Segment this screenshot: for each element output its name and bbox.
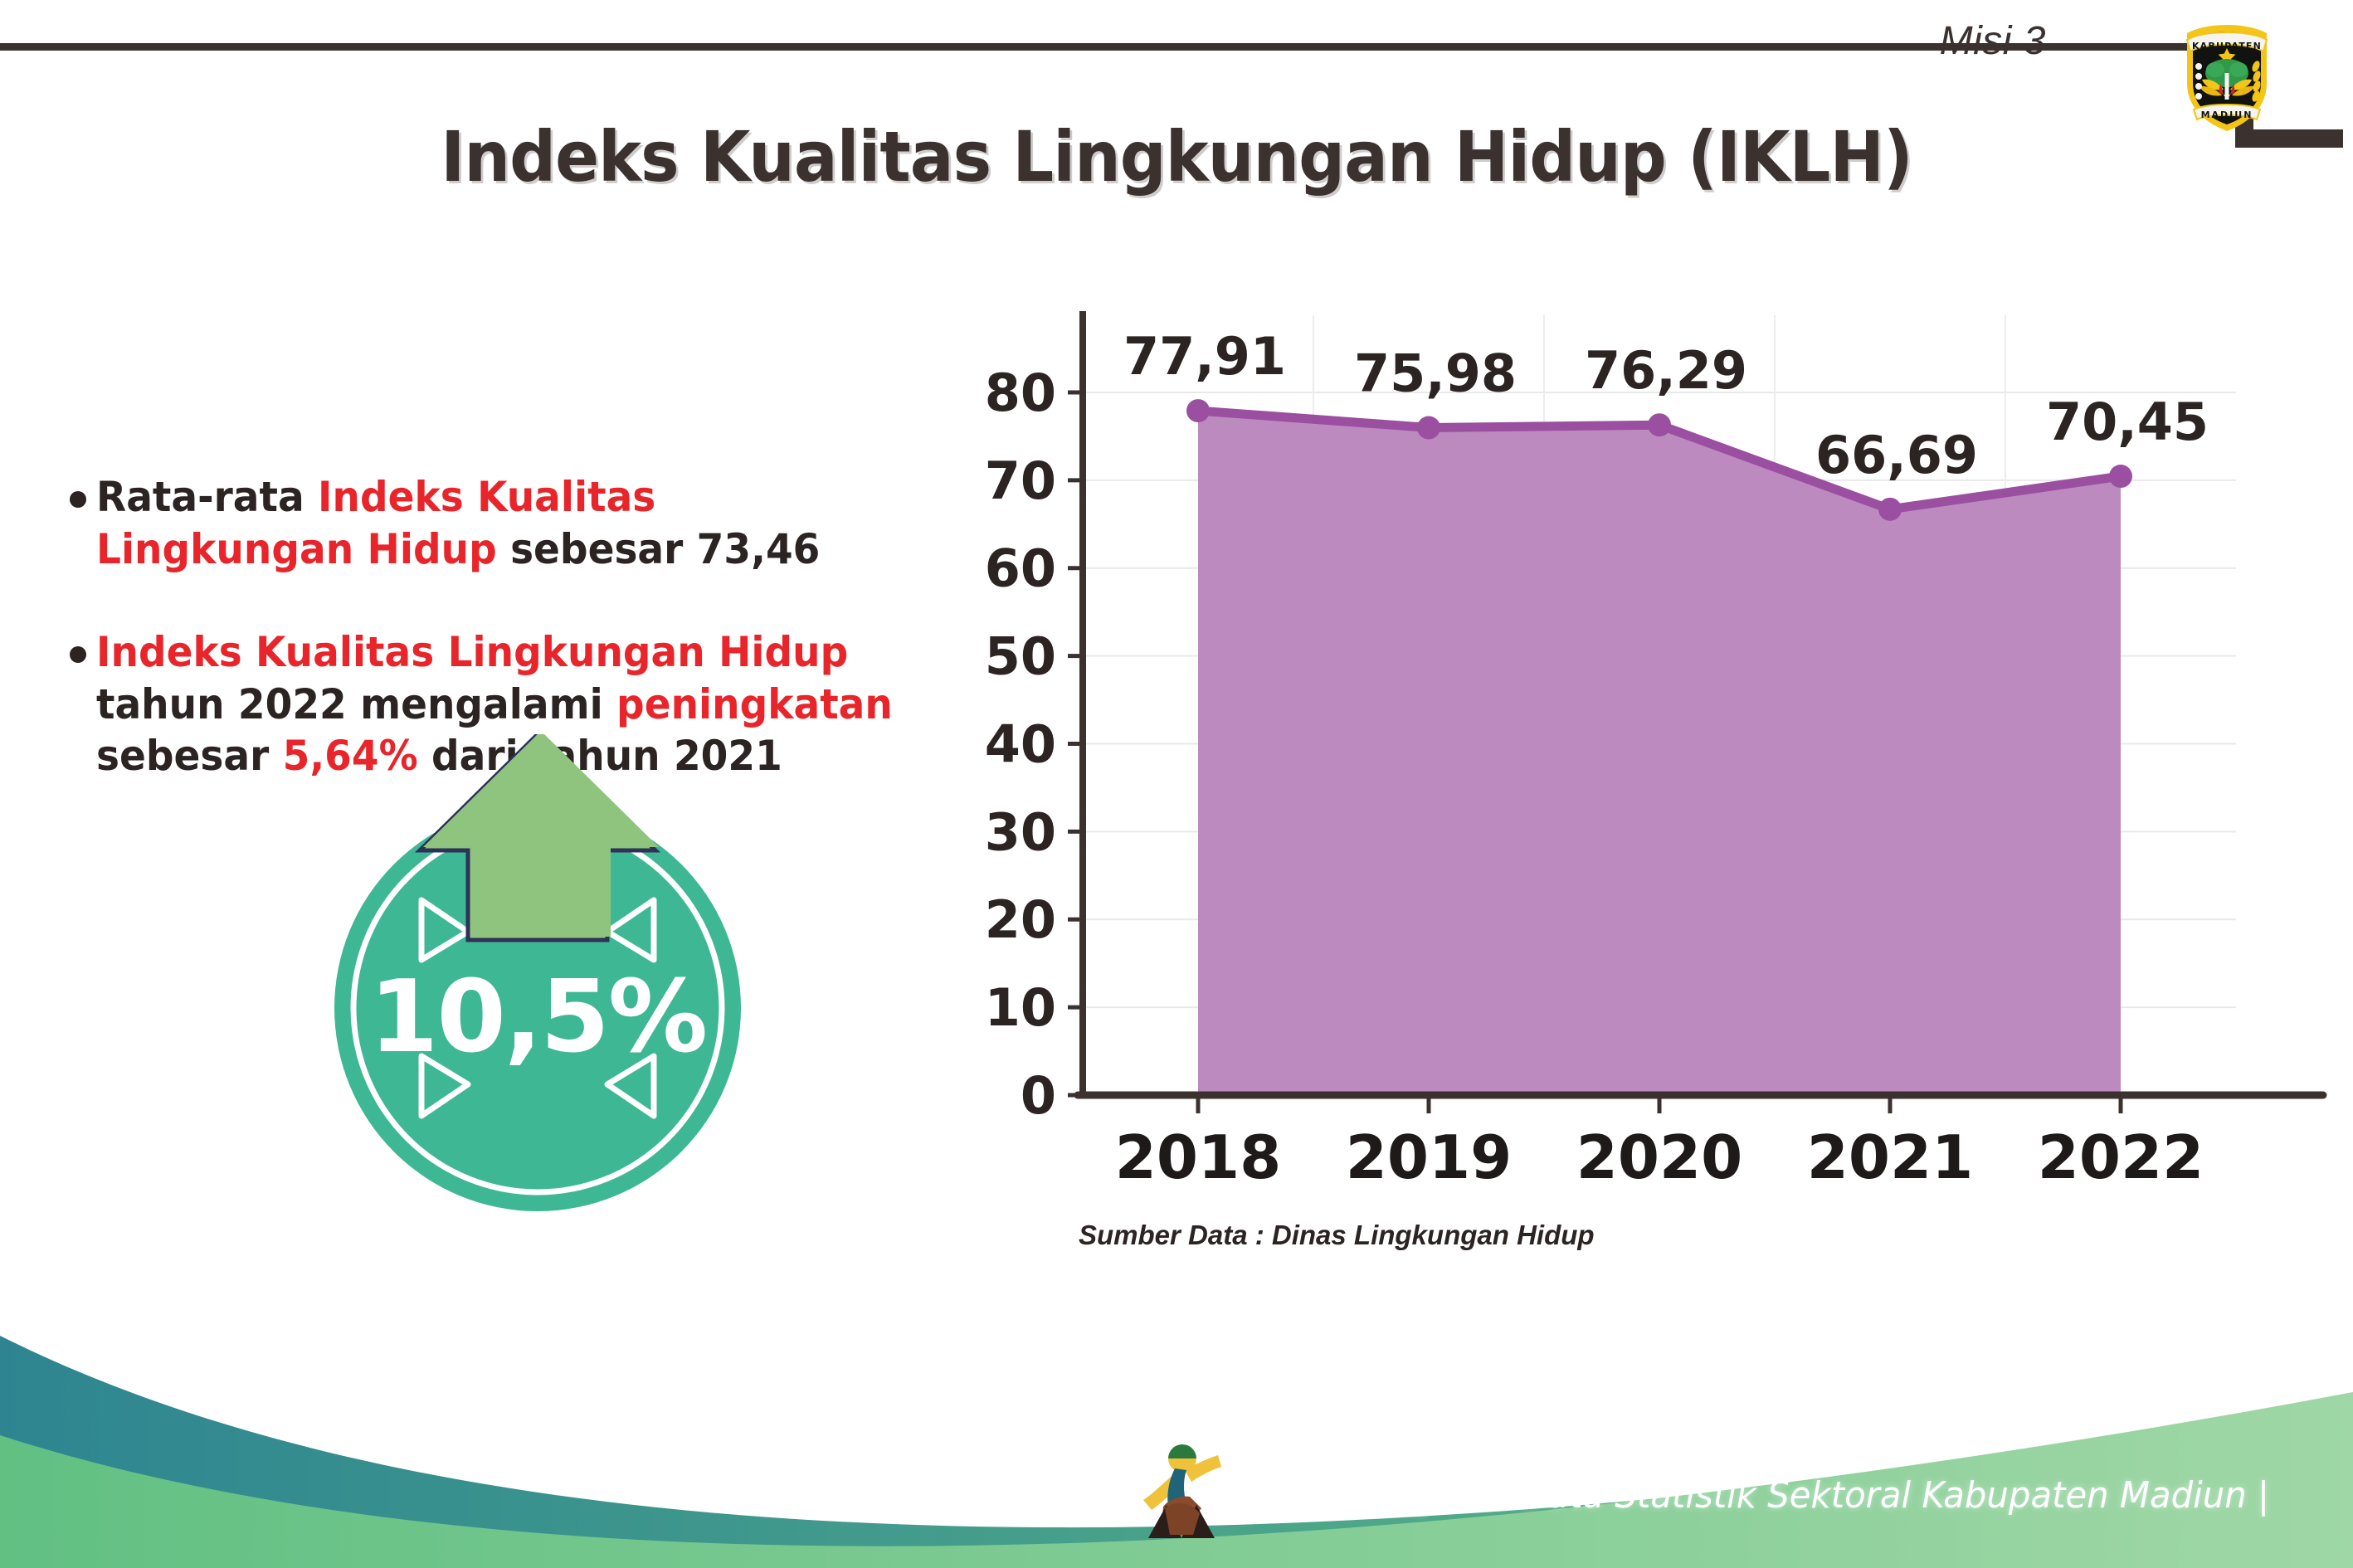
footer-caption: Media Infografis Data Statistik Sektoral… [1231, 1474, 2269, 1517]
x-axis-tick-label: 2020 [1576, 1122, 1742, 1192]
bullet-text-1: Rata-rata Indeks Kualitas Lingkungan Hid… [96, 471, 894, 575]
chart-value-label: 75,98 [1354, 343, 1517, 404]
y-axis-tick-label: 40 [985, 713, 1056, 774]
y-axis-tick-label: 80 [985, 363, 1056, 423]
header-rule [0, 43, 2237, 51]
increase-badge: 10,5% [322, 734, 753, 1215]
y-axis-tick-label: 20 [985, 889, 1056, 950]
media-infografis-logo-icon [1135, 1435, 1228, 1545]
bullet-2-seg-3: peningkatan [616, 680, 893, 728]
chart-value-label: 66,69 [1815, 425, 1978, 485]
page-title: Indeks Kualitas Lingkungan Hidup (IKLH) [82, 116, 2270, 197]
chart-value-label: 76,29 [1585, 340, 1747, 401]
y-axis-tick-label: 50 [985, 626, 1056, 687]
bullet-2-seg-2: tahun 2022 mengalami [96, 680, 616, 728]
chart-source-note: Sumber Data : Dinas Lingkungan Hidup [1079, 1220, 1595, 1251]
list-item: Rata-rata Indeks Kualitas Lingkungan Hid… [65, 471, 944, 575]
infographic-slide: Misi 3 KABUPATEN [0, 0, 2353, 1568]
y-axis-tick-label: 0 [1021, 1065, 1056, 1126]
bullet-dot-icon [70, 491, 86, 508]
bullet-dot-icon [70, 646, 86, 663]
x-axis-tick-label: 2018 [1115, 1122, 1281, 1192]
chart-value-label: 70,45 [2046, 392, 2209, 452]
chart-value-label: 77,91 [1123, 326, 1286, 387]
bullet-1-seg-1: Rata-rata [96, 473, 318, 521]
y-axis-tick-label: 10 [985, 977, 1056, 1038]
bullet-1-seg-3: sebesar 73,46 [497, 525, 821, 573]
x-axis-tick-label: 2019 [1346, 1122, 1512, 1192]
x-axis-tick-label: 2022 [2038, 1122, 2204, 1192]
bullet-2-seg-1: Indeks Kualitas Lingkungan Hidup [96, 628, 848, 676]
y-axis-tick-label: 70 [985, 450, 1056, 511]
mission-label: Misi 3 [1940, 18, 2046, 64]
bullet-2-seg-4: sebesar [96, 732, 283, 780]
badge-percent-label: 10,5% [322, 960, 753, 1075]
y-axis-tick-label: 60 [985, 538, 1056, 599]
x-axis-tick-label: 2021 [1807, 1122, 1973, 1192]
y-axis-tick-label: 30 [985, 801, 1056, 862]
iklh-area-chart: 77,9175,9876,2966,6970,45010203040506070… [962, 290, 2290, 1203]
